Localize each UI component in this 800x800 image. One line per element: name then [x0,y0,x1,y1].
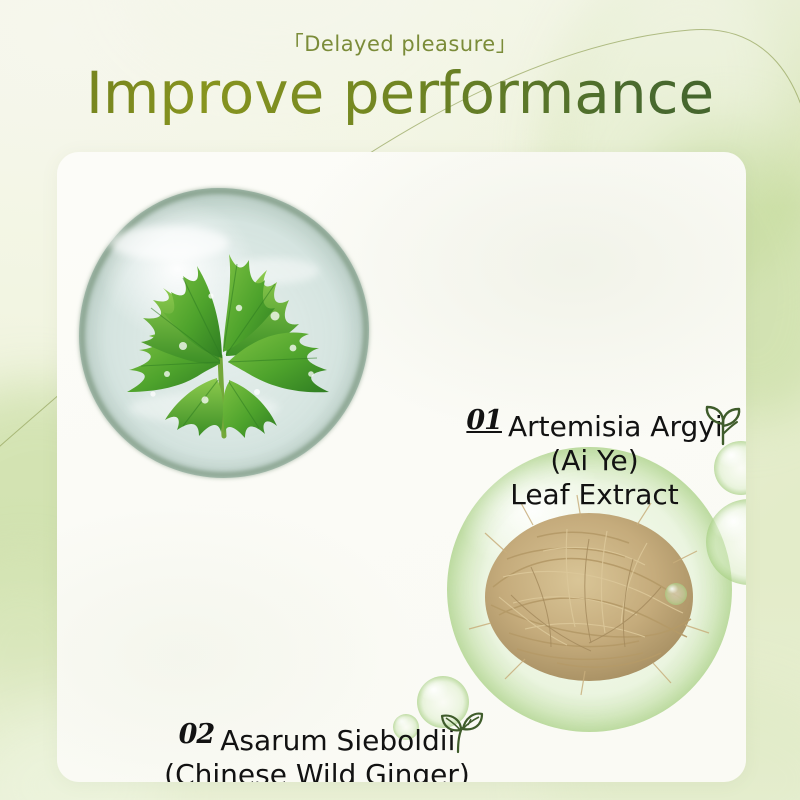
eyebrow-text: 「Delayed pleasure」 [0,28,800,58]
ingredient-image-01 [79,188,369,478]
page-title: Improve performance [0,62,800,125]
header: 「Delayed pleasure」 Improve performance [0,0,800,125]
ingredient-02-name: Asarum Sieboldii [220,724,455,757]
ingredient-01-subline-1: (Ai Ye) [462,444,727,477]
leaf-sprig-icon [438,708,484,754]
ingredient-02-number: 02 [179,719,215,750]
ingredient-01-subline-2: Leaf Extract [462,478,727,511]
promo-banner: 「Delayed pleasure」 Improve performance [0,0,800,800]
ingredient-item-01: 01 Artemisia Argyi (Ai Ye) Leaf Extract [462,410,727,511]
ingredient-01-heading: 01 Artemisia Argyi [462,410,727,443]
bubble-small-5 [665,583,687,605]
ingredient-01-number: 01 [466,405,502,436]
ingredient-02-heading: 02 Asarum Sieboldii [162,724,472,757]
ingredient-01-name: Artemisia Argyi [508,410,723,443]
ingredient-item-02: 02 Asarum Sieboldii (Chinese Wild Ginger… [162,724,472,782]
mugwort-leaves-illustration [79,188,369,478]
leaf-sprout-icon [701,404,745,448]
ingredient-02-subline-1: (Chinese Wild Ginger) [162,758,472,782]
ingredients-card: 01 Artemisia Argyi (Ai Ye) Leaf Extract … [57,152,746,782]
